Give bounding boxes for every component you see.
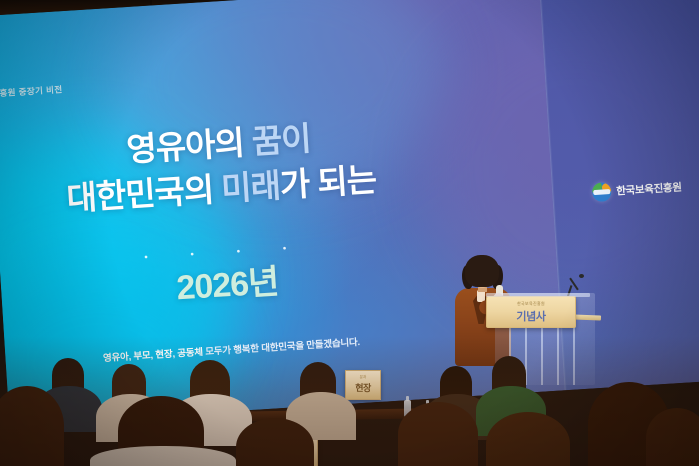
podium-nameplate-text: 기념사 (487, 308, 575, 324)
slide-headline: 영유아의 꿈이 대한민국의 미래가 되는 (0, 113, 448, 221)
headline-segment: 가 되는 (279, 161, 377, 204)
slide-kicker: 보육진흥원 중장기 비전 (0, 83, 63, 100)
audience-member (486, 412, 570, 466)
globe-icon (592, 182, 612, 202)
audience-member (398, 402, 478, 466)
headline-accent: 미래 (220, 167, 281, 208)
audience-member (646, 408, 699, 466)
headline-accent: 꿈이 (251, 120, 312, 161)
speaker-hair (465, 255, 499, 287)
subline-rest: 모두가 행복한 대한민국을 만들겠습니다. (205, 337, 360, 358)
podium-nameplate: 한국보육진흥원 기념사 (486, 296, 576, 328)
headline-segment: 대한민국의 (65, 170, 222, 217)
presentation-photo: 보육진흥원 중장기 비전 영유아의 꿈이 대한민국의 미래가 되는 • • • … (0, 0, 699, 466)
table-name-card: 분과 현장 (345, 370, 381, 400)
podium-ledge (573, 315, 601, 321)
organization-name: 한국보육진흥원 (616, 180, 682, 199)
headline-segment: 영유아의 (125, 123, 253, 168)
subline-strong: 영유아, 부모, 현장, 공동체 (103, 347, 206, 364)
name-card-subtext: 분과 (346, 375, 380, 380)
microphone-head-icon (579, 274, 584, 278)
audience-shoulders (90, 446, 236, 466)
podium-top-edge (486, 293, 590, 297)
name-card-text: 현장 (346, 381, 380, 394)
podium-nameplate-subtext: 한국보육진흥원 (487, 301, 575, 307)
